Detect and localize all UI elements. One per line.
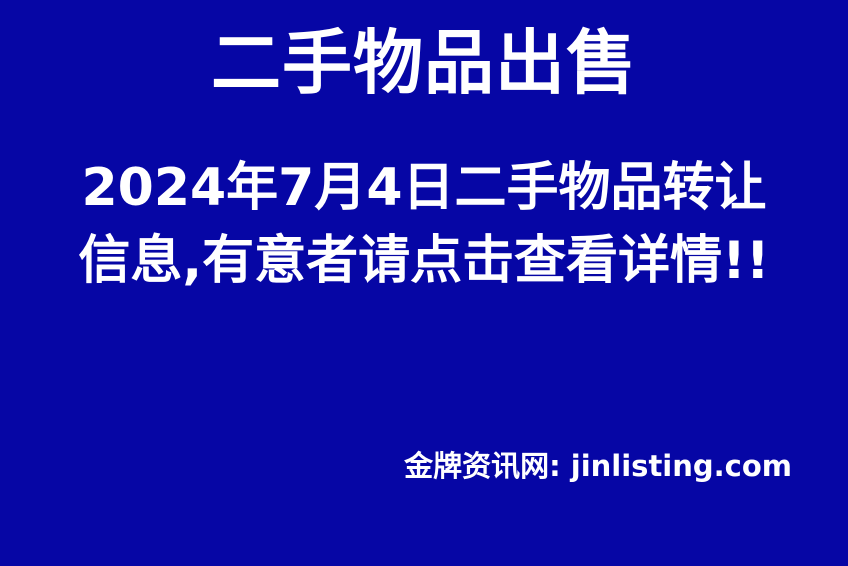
page-title: 二手物品出售 (0, 28, 848, 98)
poster-canvas: 二手物品出售 2024年7月4日二手物品转让 信息,有意者请点击查看详情!! 金… (0, 0, 848, 566)
announcement-body: 2024年7月4日二手物品转让 信息,有意者请点击查看详情!! (0, 152, 848, 298)
announcement-line-1: 2024年7月4日二手物品转让 (0, 152, 848, 225)
site-credit: 金牌资讯网: jinlisting.com (0, 449, 848, 483)
announcement-line-2: 信息,有意者请点击查看详情!! (0, 225, 848, 298)
